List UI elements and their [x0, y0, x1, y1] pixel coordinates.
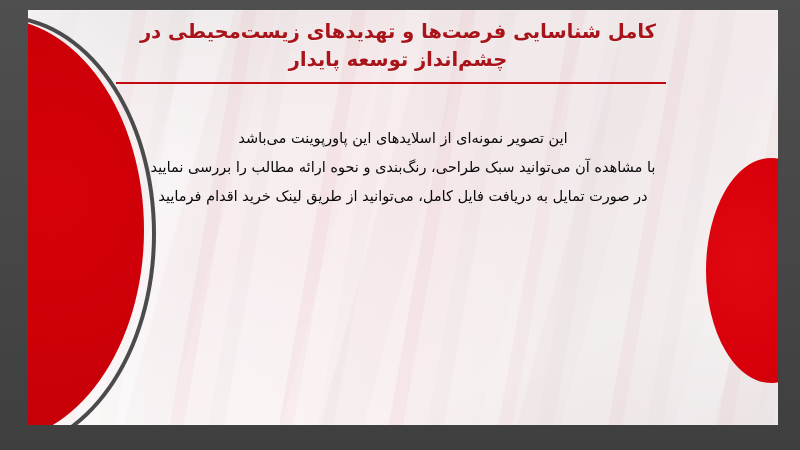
slide-body-block: این تصویر نمونه‌ای از اسلایدهای این پاور…	[68, 128, 738, 208]
slide-title-line-2: چشم‌انداز توسعه پایدار	[58, 46, 738, 74]
body-text-line-3: در صورت تمایل به دریافت فایل کامل، می‌تو…	[68, 186, 738, 208]
slide-title-line-1: کامل شناسایی فرصت‌ها و تهدیدهای زیست‌محی…	[58, 18, 738, 46]
body-text-line-2: با مشاهده آن می‌توانید سبک طراحی، رنگ‌بن…	[68, 157, 738, 179]
title-underline-rule	[116, 82, 666, 84]
body-text-line-1: این تصویر نمونه‌ای از اسلایدهای این پاور…	[68, 128, 738, 150]
slide-content-panel: کامل شناسایی فرصت‌ها و تهدیدهای زیست‌محی…	[28, 10, 778, 425]
red-ellipse-left-outline-arc	[28, 15, 156, 425]
slide-title-block: کامل شناسایی فرصت‌ها و تهدیدهای زیست‌محی…	[58, 18, 738, 75]
presentation-slide: کامل شناسایی فرصت‌ها و تهدیدهای زیست‌محی…	[0, 0, 800, 450]
